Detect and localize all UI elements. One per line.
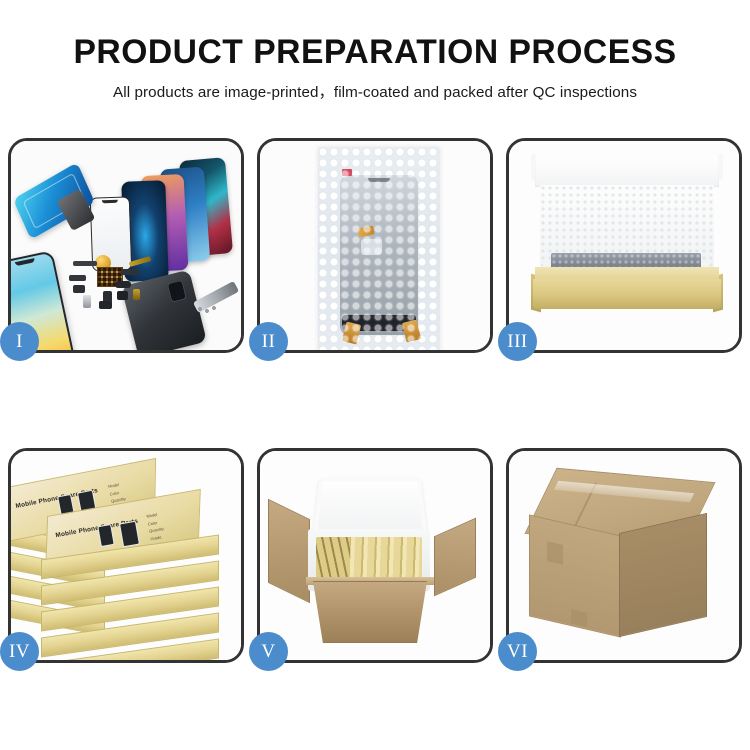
step-3-image [509, 141, 739, 350]
carton-body [308, 581, 432, 643]
part-flex-cable-f [133, 289, 140, 300]
process-step-grid: I II [8, 138, 742, 663]
part-flex-cable-h [69, 275, 86, 281]
part-flex-cable-g [73, 261, 97, 266]
page-header: PRODUCT PREPARATION PROCESS All products… [0, 0, 750, 102]
part-flex-cable-j [83, 295, 91, 308]
step-4-image: Mobile Phone Spare Parts Model Color Qua… [11, 451, 241, 660]
badge-step-3: III [498, 322, 537, 361]
page-subtitle: All products are image-printed，film-coat… [0, 80, 750, 102]
step-1-image [11, 141, 241, 350]
part-flex-cable-k [99, 301, 112, 309]
part-screws [197, 305, 217, 315]
step-5-image [260, 451, 490, 660]
badge-step-5: V [249, 632, 288, 671]
kapton-tape-left [342, 321, 361, 344]
kraft-tray-front [533, 279, 721, 309]
badge-step-4: IV [0, 632, 39, 671]
process-step-panel-5[interactable]: V [257, 448, 493, 663]
part-flex-cable-c [115, 281, 131, 288]
step-2-image [260, 141, 490, 350]
gold-boxes-side-stack [316, 537, 350, 581]
process-step-panel-1[interactable]: I [8, 138, 244, 353]
part-flex-cable-b [121, 269, 139, 275]
process-step-panel-2[interactable]: II [257, 138, 493, 353]
part-flex-cable-e [117, 291, 128, 300]
bubble-wrap-sleeve [318, 147, 440, 350]
process-step-panel-3[interactable]: III [506, 138, 742, 353]
badge-step-1: I [0, 322, 39, 361]
process-step-panel-4[interactable]: Mobile Phone Spare Parts Model Color Qua… [8, 448, 244, 663]
box-lid [535, 155, 719, 187]
carton-mark-upper [547, 541, 563, 565]
badge-step-2: II [249, 322, 288, 361]
carton-side-face [619, 513, 707, 637]
step-6-image [509, 451, 739, 660]
screen-flex-cable [365, 235, 378, 323]
page-title: PRODUCT PREPARATION PROCESS [4, 34, 747, 71]
qc-sticker [342, 169, 352, 176]
part-flex-cable-i [73, 285, 85, 293]
badge-step-6: VI [498, 632, 537, 671]
lcd-screen-assembly [340, 175, 418, 335]
process-step-panel-6[interactable]: VI [506, 448, 742, 663]
kapton-tape-right [402, 319, 421, 342]
